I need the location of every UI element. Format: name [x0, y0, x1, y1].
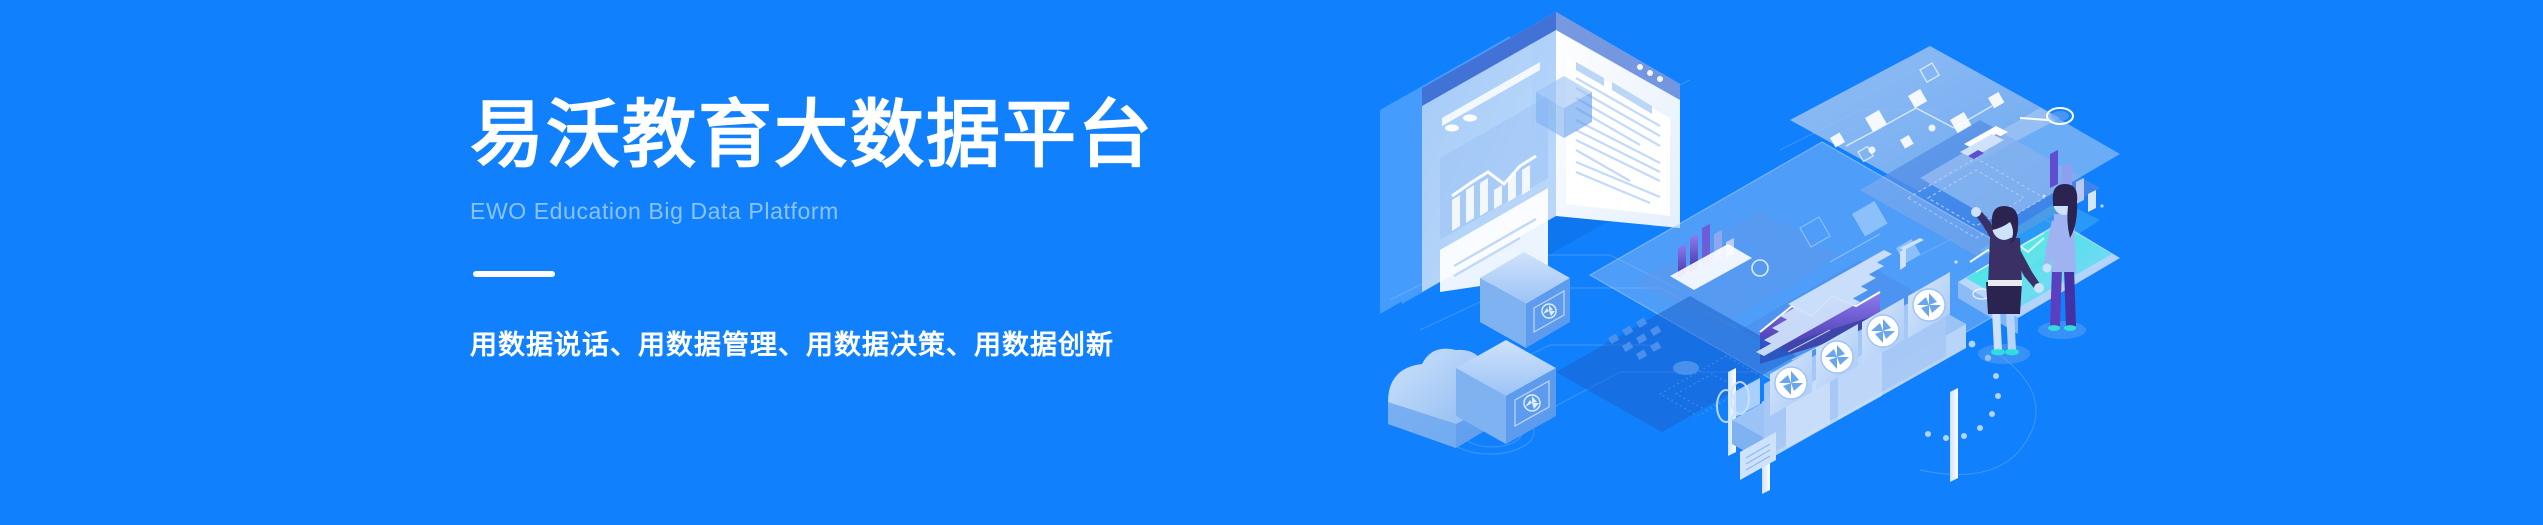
page-title: 易沃教育大数据平台 — [470, 96, 1230, 174]
page-tagline: 用数据说话、用数据管理、用数据决策、用数据创新 — [470, 323, 1230, 362]
hero-illustration — [1360, 0, 2120, 525]
hero-banner: 易沃教育大数据平台 EWO Education Big Data Platfor… — [0, 0, 2543, 525]
page-subtitle: EWO Education Big Data Platform — [470, 198, 1230, 225]
hero-text-block: 易沃教育大数据平台 EWO Education Big Data Platfor… — [470, 96, 1230, 362]
title-divider — [473, 271, 555, 277]
